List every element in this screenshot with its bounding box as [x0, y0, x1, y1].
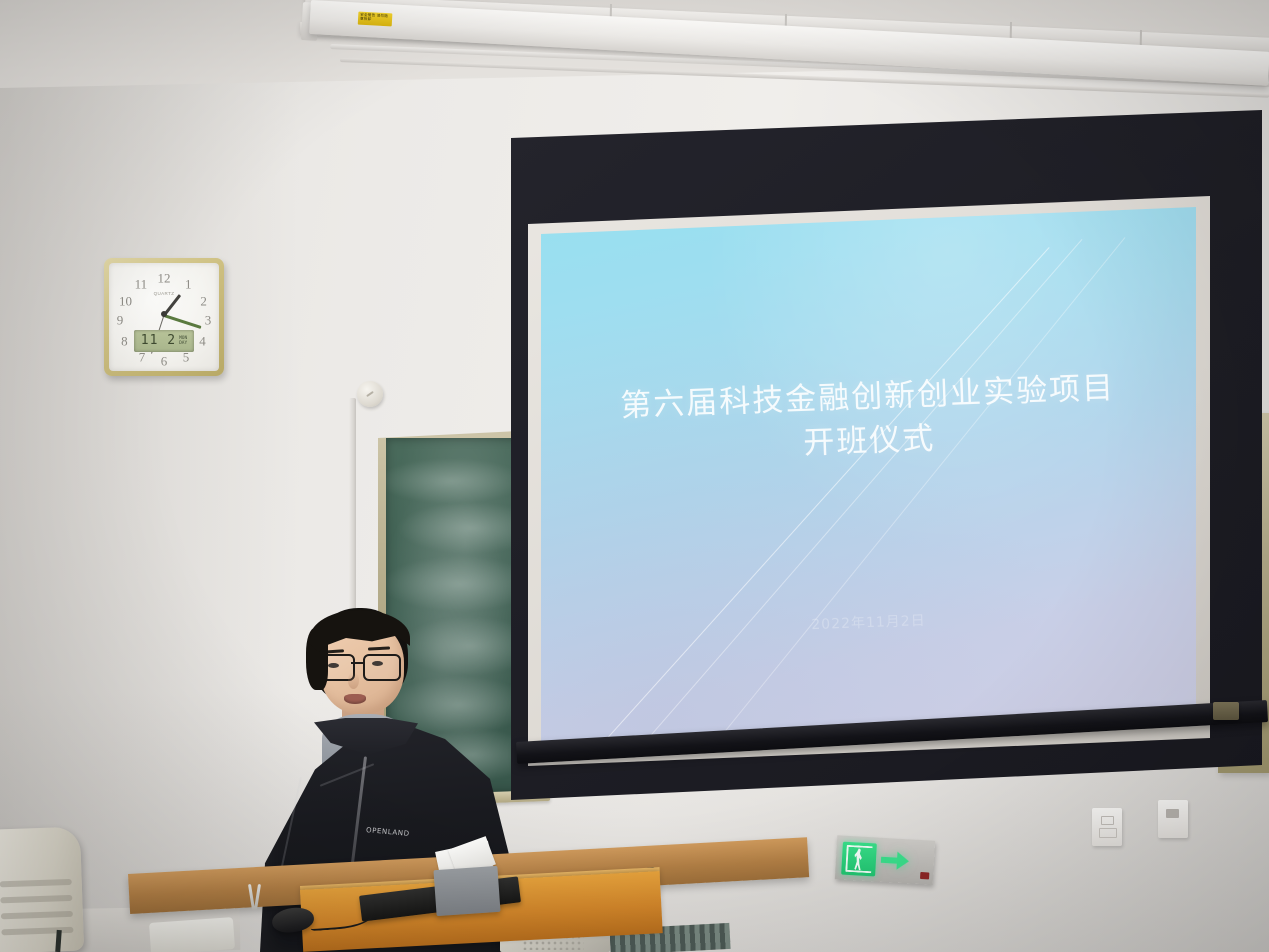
- scissors: [246, 884, 264, 918]
- data-jack[interactable]: [1158, 800, 1188, 838]
- eyeglasses: [317, 654, 403, 678]
- clock-numeral-2: 2: [200, 294, 207, 307]
- clock-numeral-12: 12: [158, 272, 171, 285]
- exit-sign-status-led: [920, 872, 929, 879]
- document-holder: [433, 866, 500, 916]
- clock-lcd-sub: MON DAY: [179, 336, 187, 346]
- slide-streak-3: [690, 237, 1125, 753]
- chalk-smudge: [396, 502, 530, 554]
- clock-numeral-6: 6: [161, 355, 168, 368]
- clock-numeral-3: 3: [205, 314, 212, 327]
- eyeglass-lens-right: [363, 654, 401, 681]
- chair-rib: [0, 895, 72, 904]
- slide-light-gradient: [541, 207, 1196, 753]
- slide-date: 2022年11月2日: [541, 600, 1196, 644]
- clock-hand-cap: [161, 311, 167, 317]
- clock-numeral-10: 10: [119, 294, 132, 307]
- clock-numeral-1: 1: [185, 277, 192, 290]
- chair[interactable]: [0, 827, 84, 952]
- nose: [348, 672, 359, 689]
- clock-numeral-9: 9: [117, 314, 124, 327]
- eyeglass-bridge: [351, 662, 363, 664]
- running-man-figure: [853, 848, 863, 870]
- clock-minute-hand: [164, 314, 202, 329]
- clock-lcd-display: 11 2 MON DAY: [134, 330, 194, 352]
- clock-numeral-5: 5: [183, 350, 190, 363]
- slide-streak-2: [622, 239, 1082, 753]
- clock-numeral-7: 7: [139, 350, 146, 363]
- desk-items: [149, 917, 235, 952]
- chalk-smudge: [386, 458, 526, 504]
- classroom-photo: QUARTZ 12 1 2 3 4 5 6 7 8 9 10 11 11 2 M…: [0, 0, 1269, 952]
- clock-brand-label: QUARTZ: [154, 291, 175, 296]
- emergency-exit-sign: [835, 835, 935, 884]
- screen-bottom-bracket: [1213, 702, 1239, 720]
- clock-numeral-8: 8: [121, 334, 128, 347]
- smoke-detector-icon: [357, 381, 383, 407]
- slide-title: 第六届科技金融创新创业实验项目 开班仪式: [541, 363, 1196, 475]
- slide-streak-1: [580, 247, 1049, 753]
- chair-rib: [0, 879, 72, 888]
- clock-lcd-date: 11 2: [141, 334, 176, 347]
- screen-warning-label: 安全警告 请勿随意拆卸: [358, 12, 393, 27]
- clock-numeral-11: 11: [135, 277, 148, 290]
- wall-clock: QUARTZ 12 1 2 3 4 5 6 7 8 9 10 11 11 2 M…: [104, 258, 224, 376]
- clock-face: QUARTZ 12 1 2 3 4 5 6 7 8 9 10 11 11 2 M…: [109, 263, 219, 371]
- running-man-icon: [841, 841, 877, 876]
- clock-numeral-4: 4: [199, 334, 206, 347]
- chalk-smudge: [386, 556, 530, 612]
- chair-rib: [1, 927, 73, 936]
- power-outlet[interactable]: [1092, 808, 1122, 846]
- clock-lcd-sub-bottom: DAY: [179, 341, 187, 346]
- chair-rib: [1, 911, 73, 920]
- mouth: [344, 694, 366, 704]
- arrow-right-icon: [880, 850, 911, 872]
- projected-slide: 第六届科技金融创新创业实验项目 开班仪式 2022年11月2日: [541, 207, 1196, 753]
